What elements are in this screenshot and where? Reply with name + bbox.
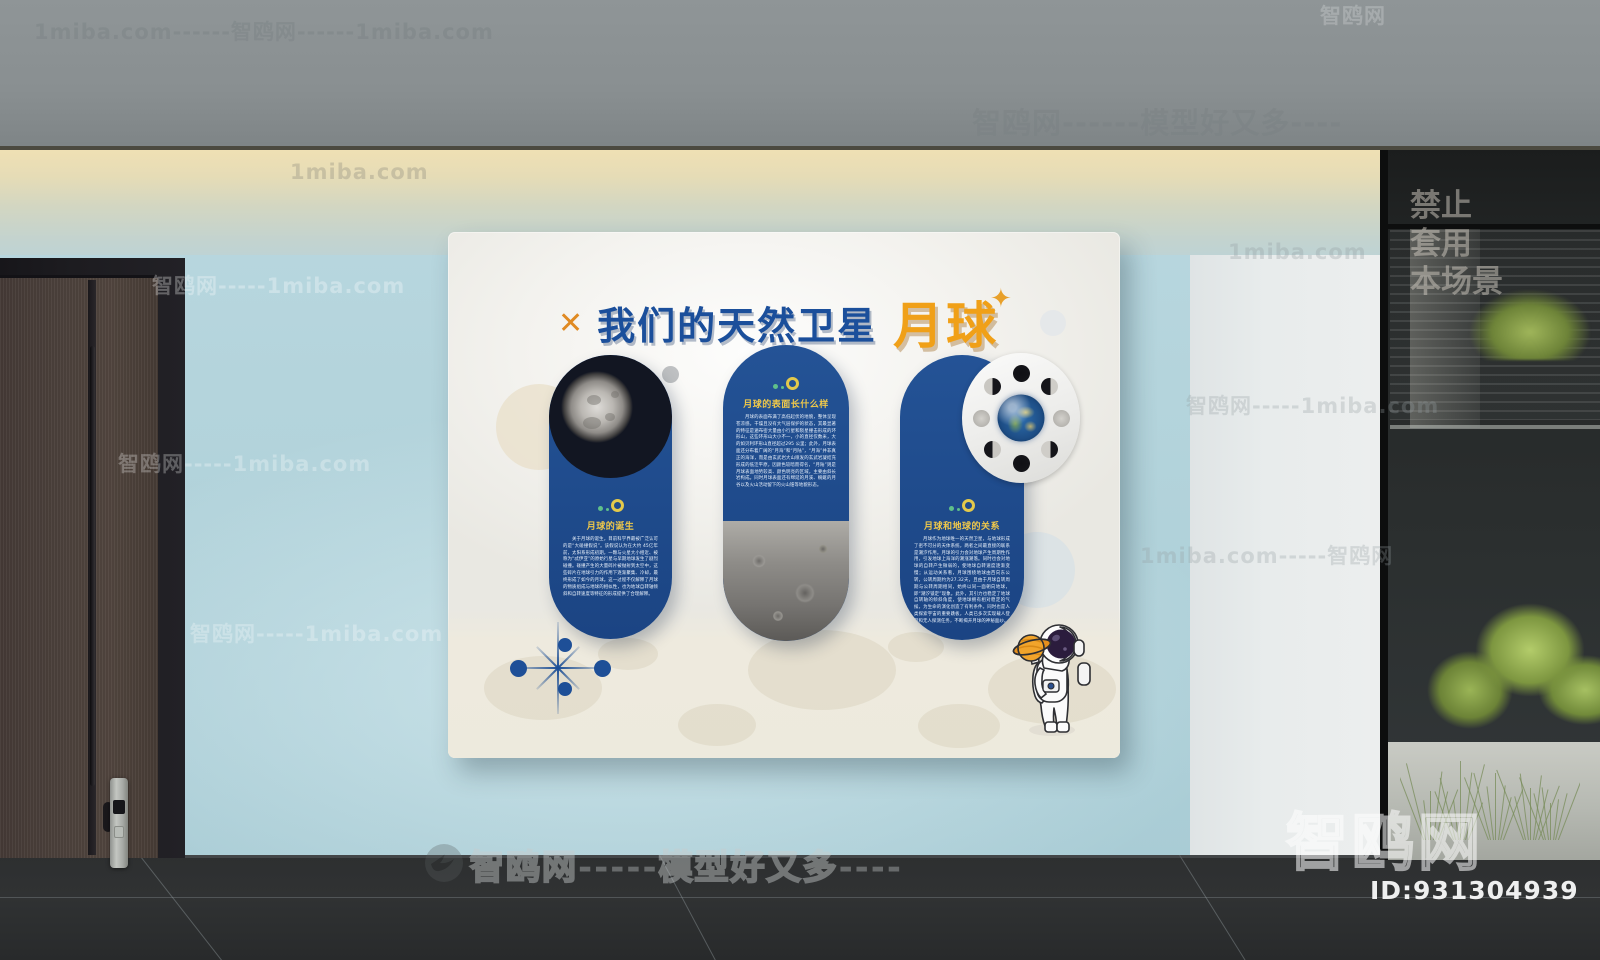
compass-dot-icon	[558, 682, 572, 696]
moon-phase-icon	[973, 410, 990, 427]
title-accent-text: 月球	[893, 286, 999, 358]
decor-dot-grey	[662, 366, 679, 383]
card-moon-birth[interactable]: 月球的诞生 关于月球的诞生，目前科学界最被广泛认可的是“大碰撞假说”。该假说认为…	[549, 355, 672, 639]
moon-phase-icon	[1041, 441, 1058, 458]
grass-blade-icon	[1530, 788, 1531, 840]
grass-blade-icon	[1558, 776, 1580, 840]
door-smart-lock-icon[interactable]	[110, 778, 128, 868]
card-2-title: 月球的表面长什么样	[723, 397, 849, 410]
grass-blade-icon	[1460, 761, 1461, 840]
moon-phase-icon	[1053, 410, 1070, 427]
astronaut-illustration	[1004, 610, 1096, 740]
card-3-body: 月球作为地球唯一的天然卫星，与地球形成了密不可分的天体系统，两者之间最直接的联系…	[914, 537, 1010, 626]
exterior-foliage-top-icon	[1470, 290, 1590, 360]
title-main-text: 我们的天然卫星	[597, 295, 877, 350]
moon-phase-icon	[984, 441, 1001, 458]
floor	[0, 855, 1600, 960]
compass-star-decor	[508, 636, 608, 698]
sprout-ring-icon	[598, 499, 624, 513]
board-title: ✕ 我们的天然卫星 月球	[558, 292, 1058, 352]
wall-right-panel	[1190, 255, 1380, 860]
card-2-body: 月球的表面布满了高低起伏的地貌，整体呈现苍凉感。干燥且没有大气层保护的状态，其最…	[736, 415, 836, 490]
door[interactable]	[0, 258, 185, 858]
moon-phase-icon	[1013, 365, 1030, 382]
sprout-ring-icon	[949, 499, 975, 513]
planter-grass-icon	[1400, 745, 1580, 840]
compass-dot-icon	[510, 660, 527, 677]
window-ledge	[1390, 425, 1600, 429]
grass-blade-icon	[1400, 766, 1423, 840]
door-handle[interactable]	[90, 346, 95, 786]
card-1-body: 关于月球的诞生，目前科学界最被广泛认可的是“大碰撞假说”。该假说认为在大约 45…	[563, 537, 658, 598]
moon-crescent-photo	[549, 355, 672, 478]
moon-phase-icon	[1041, 378, 1058, 395]
compass-ray-icon	[536, 646, 559, 669]
floor-wall-joint	[0, 855, 1600, 858]
moon-phase-ring	[962, 353, 1080, 483]
bird-logo-icon	[424, 843, 464, 883]
moon-phase-icon	[1013, 455, 1030, 472]
sprout-ring-icon	[773, 377, 799, 391]
card-1-title: 月球的诞生	[549, 519, 672, 532]
compass-dot-icon	[594, 660, 611, 677]
culture-wall-board: ✕ 我们的天然卫星 月球 ✦ 月球的诞生 关于月球的诞生，目前科学界最被广泛认可…	[448, 232, 1120, 758]
compass-ray-icon	[536, 667, 559, 690]
room-scene: ✕ 我们的天然卫星 月球 ✦ 月球的诞生 关于月球的诞生，目前科学界最被广泛认可…	[0, 0, 1600, 960]
card-3-title: 月球和地球的关系	[900, 519, 1024, 532]
card-moon-surface[interactable]: 月球的表面长什么样 月球的表面布满了高低起伏的地貌，整体呈现苍凉感。干燥且没有大…	[723, 345, 849, 641]
window-mullion-top	[1380, 224, 1600, 229]
grass-blade-icon	[1550, 803, 1551, 840]
exterior-shrub-icon	[1410, 580, 1600, 750]
cross-mark-icon: ✕	[558, 309, 583, 339]
sparkle-icon: ✦	[990, 284, 1012, 314]
moon-phase-icon	[984, 378, 1001, 395]
compass-dot-icon	[558, 638, 572, 652]
ceiling	[0, 0, 1600, 150]
window-mullion-left	[1380, 150, 1388, 860]
earth-globe-icon	[998, 395, 1045, 442]
grass-blade-icon	[1495, 773, 1496, 840]
door-leaf	[0, 275, 158, 858]
grass-blade-icon	[1430, 791, 1431, 840]
